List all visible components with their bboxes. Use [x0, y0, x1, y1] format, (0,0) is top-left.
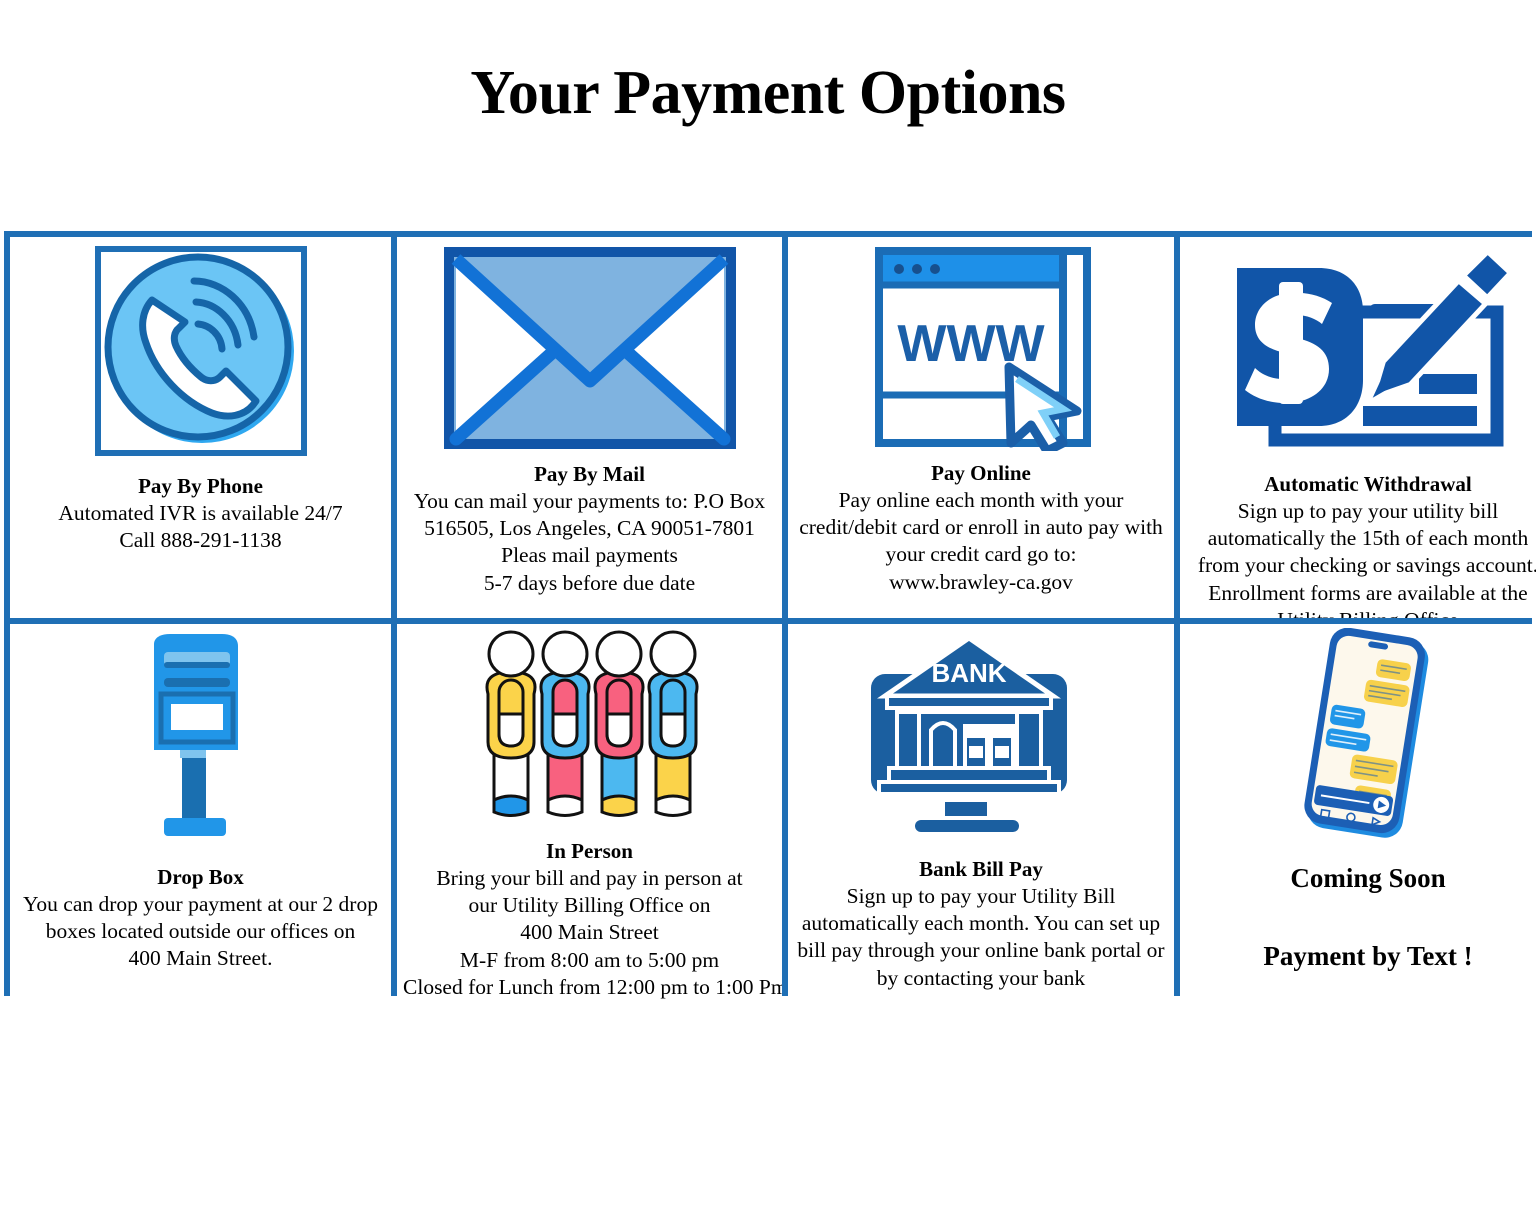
option-card-in-person[interactable]: In Person Bring your bill and pay in per…	[397, 624, 782, 1008]
option-card-pay-online[interactable]: WWW Pay Online Pay online each month wit…	[788, 237, 1174, 618]
mailbox-drop-box-icon	[10, 628, 391, 848]
card-title: Drop Box	[16, 864, 385, 891]
card-body: Bring your bill and pay in person at our…	[403, 865, 776, 1001]
card-title: Pay By Mail	[403, 461, 776, 488]
option-card-pay-by-phone[interactable]: Pay By Phone Automated IVR is available …	[10, 237, 391, 618]
card-title: Pay By Phone	[16, 473, 385, 500]
card-body: You can mail your payments to: P.O Box 5…	[403, 488, 776, 597]
bank-sign-text: BANK	[931, 658, 1006, 688]
page-title: Your Payment Options	[0, 62, 1536, 124]
payment-options-grid: Pay By Phone Automated IVR is available …	[4, 231, 1532, 996]
option-text-pay-online: Pay Online Pay online each month with yo…	[788, 460, 1174, 596]
smartphone-chat-icon	[1180, 626, 1536, 844]
card-body: Pay online each month with your credit/d…	[794, 487, 1168, 596]
payment-options-flyer: Your Payment Options Pay By Phone Automa…	[0, 0, 1536, 1229]
card-title: Bank Bill Pay	[794, 856, 1168, 883]
option-text-pay-by-mail: Pay By Mail You can mail your payments t…	[397, 461, 782, 597]
payment-by-text-label: Payment by Text !	[1186, 940, 1536, 972]
card-body: Sign up to pay your utility bill automat…	[1186, 498, 1536, 618]
bank-on-monitor-icon: BANK	[788, 630, 1174, 838]
card-body: You can drop your payment at our 2 drop …	[16, 891, 385, 973]
option-text-pay-by-phone: Pay By Phone Automated IVR is available …	[10, 473, 391, 554]
pay-online-url: www.brawley-ca.gov	[794, 569, 1168, 596]
browser-www-cursor-icon: WWW	[788, 237, 1174, 457]
option-card-bank-bill-pay[interactable]: BANK Bank Bill Pay Sign up to pay your U…	[788, 624, 1174, 1008]
people-group-icon	[397, 628, 782, 828]
card-body: Automated IVR is available 24/7 Call 888…	[16, 500, 385, 555]
phone-in-circle-icon	[10, 237, 391, 465]
browser-www-text: WWW	[897, 315, 1045, 373]
option-text-automatic-withdrawal: Automatic Withdrawal Sign up to pay your…	[1180, 471, 1536, 618]
card-title: Pay Online	[794, 460, 1168, 487]
option-text-drop-box: Drop Box You can drop your payment at ou…	[10, 864, 391, 973]
option-card-pay-by-mail[interactable]: Pay By Mail You can mail your payments t…	[397, 237, 782, 618]
option-text-bank-bill-pay: Bank Bill Pay Sign up to pay your Utilit…	[788, 856, 1174, 992]
option-card-automatic-withdrawal[interactable]: Automatic Withdrawal Sign up to pay your…	[1180, 237, 1536, 618]
option-text-in-person: In Person Bring your bill and pay in per…	[397, 838, 782, 1001]
check-with-pen-icon	[1180, 237, 1536, 459]
option-card-coming-soon[interactable]: Coming Soon Payment by Text !	[1180, 624, 1536, 1008]
envelope-icon	[397, 237, 782, 459]
card-title: Automatic Withdrawal	[1186, 471, 1536, 498]
option-text-coming-soon: Coming Soon Payment by Text !	[1180, 862, 1536, 973]
card-body: Sign up to pay your Utility Bill automat…	[794, 883, 1168, 992]
card-title: In Person	[403, 838, 776, 865]
option-card-drop-box[interactable]: Drop Box You can drop your payment at ou…	[10, 624, 391, 1008]
coming-soon-title: Coming Soon	[1186, 862, 1536, 894]
